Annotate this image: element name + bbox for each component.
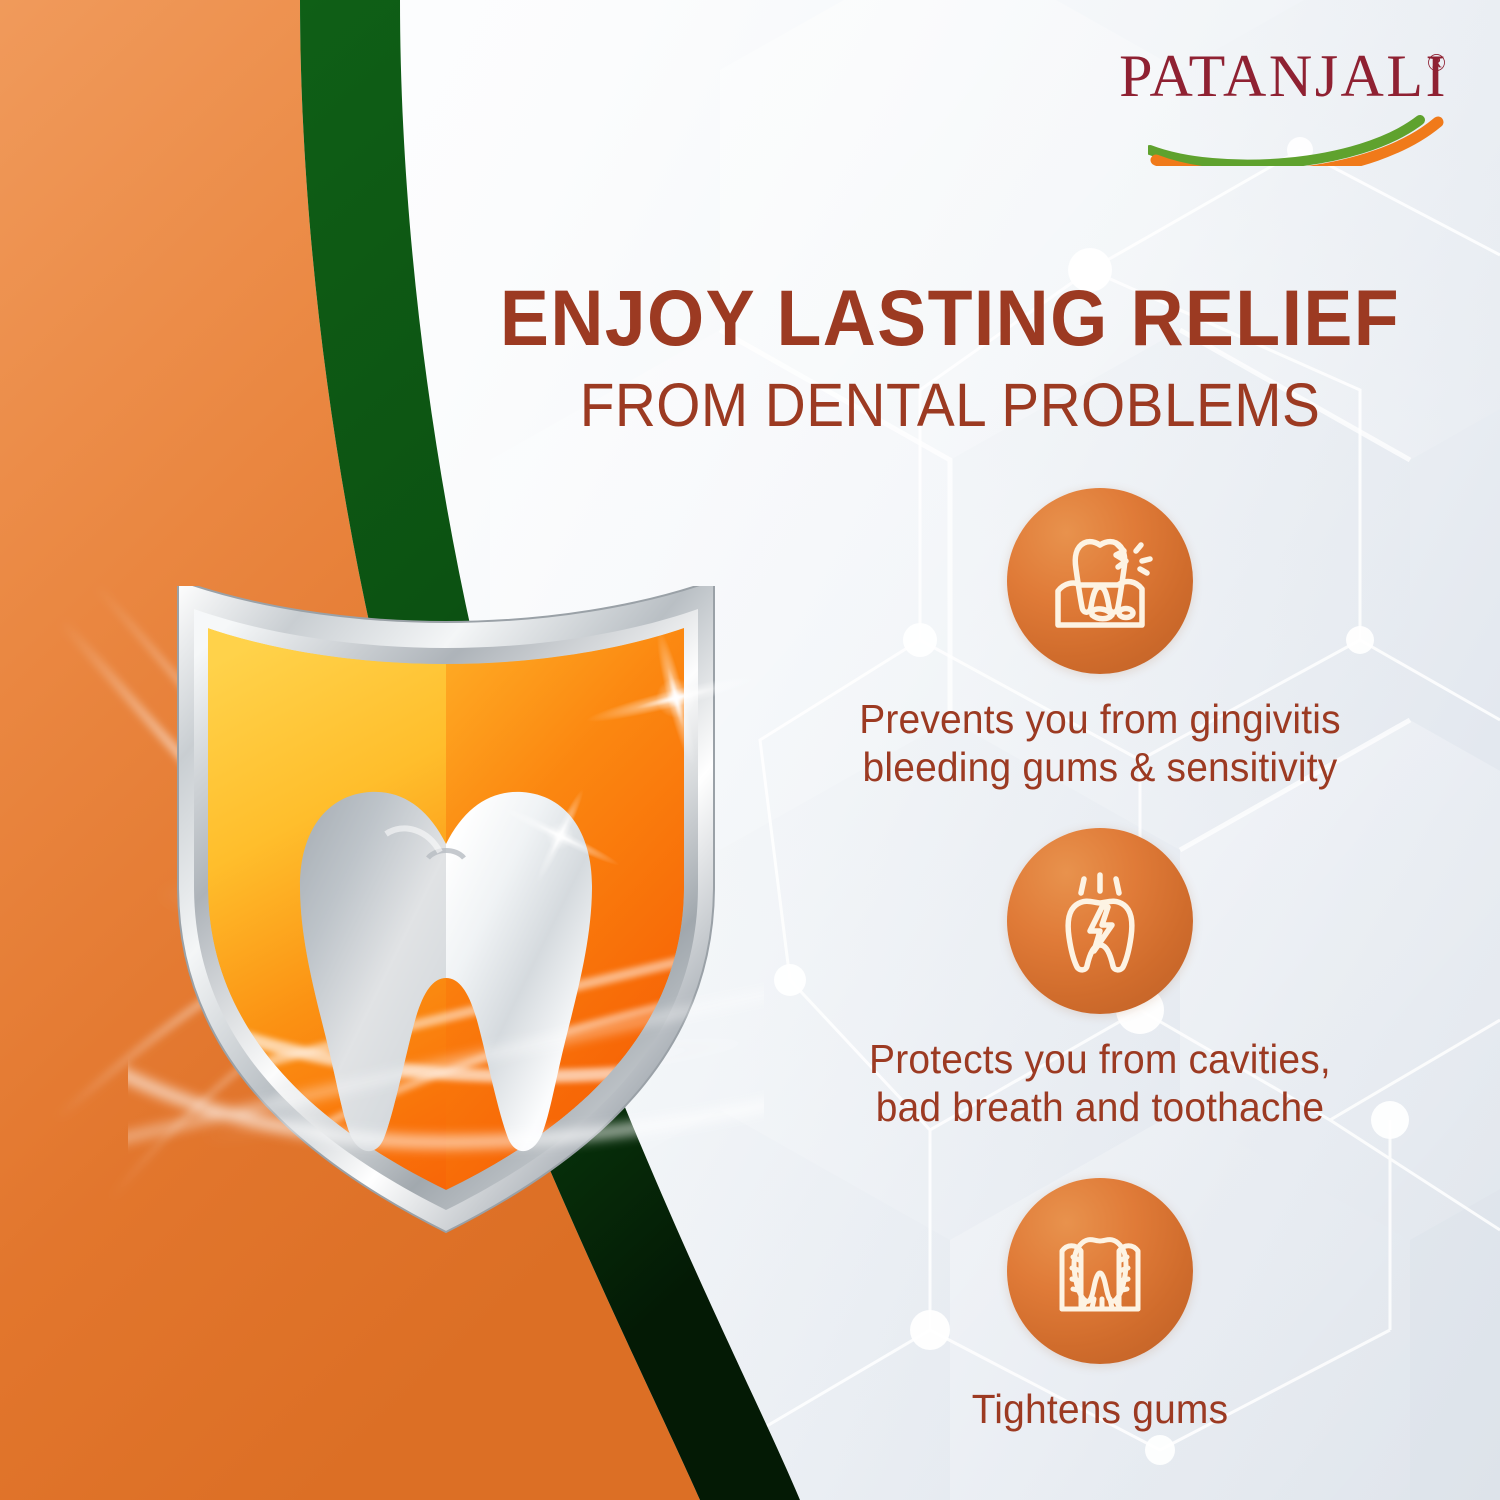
headline-primary: ENJOY LASTING RELIEF (457, 278, 1443, 359)
headline-block: ENJOY LASTING RELIEF FROM DENTAL PROBLEM… (420, 278, 1480, 437)
shield-hero-graphic (128, 586, 764, 1246)
patanjali-logo: PATANJALI ® (1118, 46, 1448, 166)
feature-item: Tightens gums (790, 1178, 1410, 1434)
product-banner: PATANJALI ® ENJOY LASTING RELIEF FROM DE… (0, 0, 1500, 1500)
tooth-cavity-pain-icon (1007, 828, 1193, 1014)
feature-caption-line: Prevents you from gingivitis (806, 696, 1395, 744)
feature-caption: Prevents you from gingivitis bleeding gu… (806, 696, 1395, 791)
registered-trademark-icon: ® (1427, 50, 1446, 78)
feature-item: Protects you from cavities, bad breath a… (790, 828, 1410, 1131)
feature-caption-line: Tightens gums (806, 1386, 1395, 1434)
logo-wordmark: PATANJALI (1119, 46, 1448, 106)
feature-caption-line: bleeding gums & sensitivity (806, 744, 1395, 792)
feature-caption: Protects you from cavities, bad breath a… (806, 1036, 1395, 1131)
logo-swoosh (1148, 104, 1448, 166)
feature-caption: Tightens gums (806, 1386, 1395, 1434)
feature-caption-line: bad breath and toothache (806, 1084, 1395, 1132)
tooth-gum-tighten-icon (1007, 1178, 1193, 1364)
tooth-gingivitis-icon (1007, 488, 1193, 674)
headline-secondary: FROM DENTAL PROBLEMS (457, 373, 1443, 437)
feature-caption-line: Protects you from cavities, (806, 1036, 1395, 1084)
feature-item: Prevents you from gingivitis bleeding gu… (790, 488, 1410, 791)
